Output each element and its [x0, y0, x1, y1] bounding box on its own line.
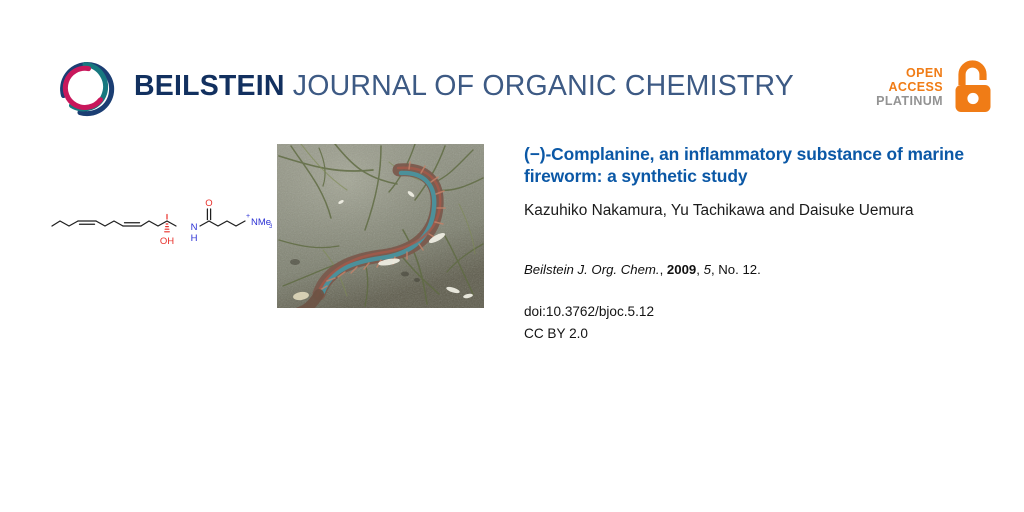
citation-sep-1: ,: [660, 262, 667, 277]
open-lock-icon: [950, 59, 996, 115]
citation-journal: Beilstein J. Org. Chem.: [524, 262, 660, 277]
beilstein-ring-logo-icon: [54, 55, 118, 119]
oa-line-platinum: PLATINUM: [876, 94, 943, 108]
open-access-badge[interactable]: OPEN ACCESS PLATINUM: [876, 58, 996, 116]
open-access-label: OPEN ACCESS PLATINUM: [876, 66, 943, 108]
label-hydroxyl: OH: [160, 236, 174, 247]
citation-article-number: No. 12.: [718, 262, 761, 277]
article-metadata: (−)-Complanine, an inflammatory substanc…: [524, 144, 994, 344]
article-title: (−)-Complanine, an inflammatory substanc…: [524, 144, 994, 188]
citation-sep-2: ,: [696, 262, 703, 277]
chemical-structure-diagram: OH N H O + NMe 3: [48, 192, 272, 264]
label-ammonium-subscript: 3: [269, 223, 272, 230]
oa-line-access: ACCESS: [876, 80, 943, 94]
article-doi[interactable]: doi:10.3762/bjoc.5.12: [524, 301, 994, 322]
label-amide-hydrogen: H: [191, 233, 198, 244]
article-cover-body: OH N H O + NMe 3: [0, 130, 1024, 512]
masthead: BEILSTEIN JOURNAL OF ORGANIC CHEMISTRY O…: [0, 0, 1024, 130]
label-amide-nitrogen: N: [191, 222, 198, 233]
doi-and-license: doi:10.3762/bjoc.5.12 CC BY 2.0: [524, 301, 994, 344]
citation-year: 2009: [667, 262, 696, 277]
oa-line-open: OPEN: [876, 66, 943, 80]
article-citation: Beilstein J. Org. Chem., 2009, 5, No. 12…: [524, 261, 994, 279]
journal-logo[interactable]: BEILSTEIN JOURNAL OF ORGANIC CHEMISTRY: [54, 55, 794, 119]
citation-volume: 5: [704, 262, 711, 277]
wordmark-journal-of-organic-chemistry: JOURNAL OF ORGANIC CHEMISTRY: [285, 70, 794, 102]
article-authors: Kazuhiko Nakamura, Yu Tachikawa and Dais…: [524, 200, 994, 221]
wordmark-beilstein: BEILSTEIN: [134, 70, 285, 102]
journal-wordmark: BEILSTEIN JOURNAL OF ORGANIC CHEMISTRY: [134, 72, 794, 103]
article-license[interactable]: CC BY 2.0: [524, 323, 994, 344]
marine-fireworm-photo: [277, 144, 484, 308]
label-ammonium-charge: +: [246, 213, 250, 220]
label-carbonyl-oxygen: O: [205, 198, 212, 209]
